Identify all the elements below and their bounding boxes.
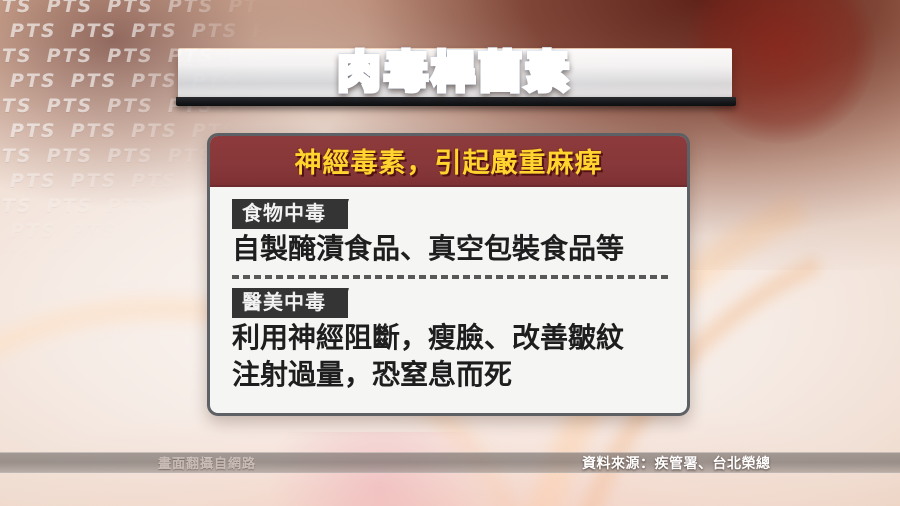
page-title: 肉毒桿菌素 xyxy=(178,34,732,104)
section-line: 注射過量，恐窒息而死 xyxy=(232,358,671,392)
section-divider xyxy=(232,275,671,279)
section-cosmetic-poisoning: 醫美中毒 利用神經阻斷，瘦臉、改善皺紋 注射過量，恐窒息而死 xyxy=(232,288,671,392)
footer-bar: 畫面翻攝自網路 資料來源：疾管署、台北榮總 xyxy=(0,452,900,473)
section-tag: 食物中毒 xyxy=(232,199,348,229)
section-food-poisoning: 食物中毒 自製醃漬食品、真空包裝食品等 xyxy=(232,199,671,266)
section-tag: 醫美中毒 xyxy=(232,288,348,318)
section-line: 自製醃漬食品、真空包裝食品等 xyxy=(232,232,671,266)
card-body: 食物中毒 自製醃漬食品、真空包裝食品等 醫美中毒 利用神經阻斷，瘦臉、改善皺紋 … xyxy=(210,187,687,402)
broadcast-graphic-stage: PTSPTSPTSPTSPTSPTSPTSPTSPTSPTSPTSPTSPTSP… xyxy=(0,0,900,506)
card-header: 神經毒素，引起嚴重麻痺 xyxy=(210,136,687,187)
section-line: 利用神經阻斷，瘦臉、改善皺紋 xyxy=(232,321,671,355)
info-card: 神經毒素，引起嚴重麻痺 食物中毒 自製醃漬食品、真空包裝食品等 醫美中毒 利用神… xyxy=(207,133,690,416)
footer-credit-right: 資料來源：疾管署、台北榮總 xyxy=(582,453,771,473)
footer-credit-left: 畫面翻攝自網路 xyxy=(158,453,256,472)
card-header-title: 神經毒素，引起嚴重麻痺 xyxy=(295,141,603,180)
